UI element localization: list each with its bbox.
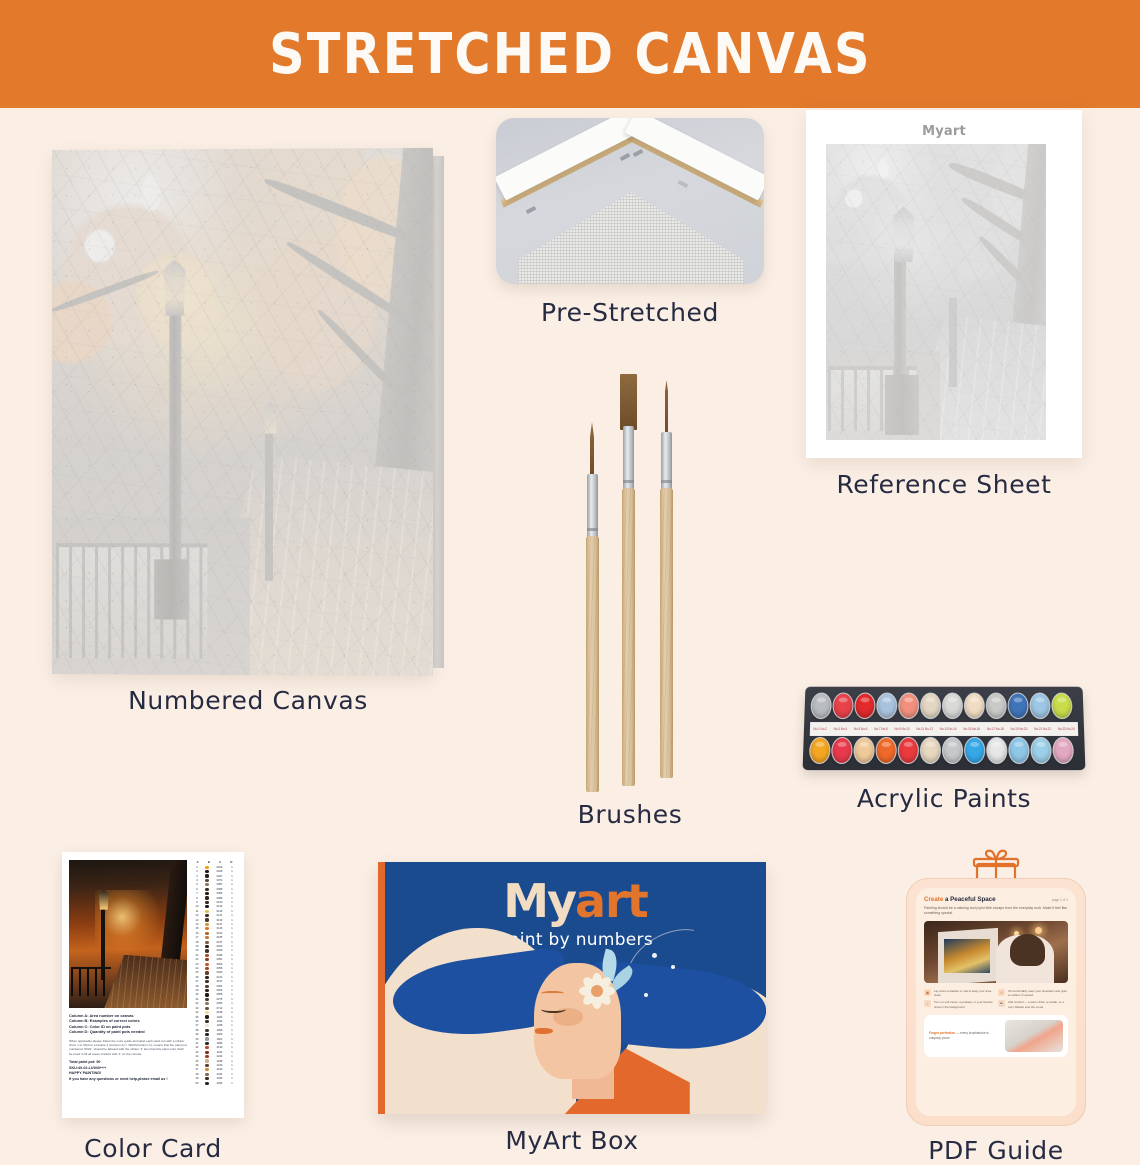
table-header-cell: D [226, 860, 237, 864]
cell-quantity: 1 [227, 1016, 237, 1019]
paint-number-label: No.1 No.2 [813, 727, 827, 731]
cell-quantity: 1 [227, 945, 237, 948]
cell-color-swatch [202, 883, 212, 886]
paint-pot [920, 737, 941, 764]
cell-color-swatch [202, 1020, 212, 1023]
cell-quantity: 1 [227, 954, 237, 957]
caption-acrylic-paints: Acrylic Paints [798, 784, 1090, 813]
cell-color-id: 2130 [212, 1046, 227, 1049]
pdf-guide-tip: ▣Lay down a blanket or mat to keep your … [924, 989, 993, 997]
cell-quantity: 1 [227, 919, 237, 922]
cell-color-swatch [202, 905, 212, 908]
reference-sheet-logo: Myart [822, 124, 1066, 139]
pdf-guide-photo [924, 921, 1068, 983]
paint-number-label: No.15 No.16 [963, 727, 980, 731]
page-header: STRETCHED CANVAS [0, 0, 1140, 108]
cell-color-id: 0130 [212, 919, 227, 922]
cell-area-number: 12 [192, 914, 202, 917]
cell-area-number: 4 [192, 879, 202, 882]
paint-pot [875, 737, 896, 764]
cell-color-id: 0056 [212, 967, 227, 970]
cell-color-swatch [202, 967, 212, 970]
brush-handle [586, 536, 599, 792]
cell-color-swatch [202, 1064, 212, 1067]
cell-color-id: 0162 [212, 932, 227, 935]
cell-area-number: 48 [192, 1073, 202, 1076]
cell-area-number: 49 [192, 1077, 202, 1080]
cell-color-id: 0146 [212, 927, 227, 930]
cell-area-number: 13 [192, 919, 202, 922]
product-color-card[interactable]: Column A: Area number on canvas Column B… [40, 852, 266, 1152]
cell-color-swatch [202, 879, 212, 882]
cell-quantity: 1 [227, 1060, 237, 1063]
cell-color-swatch [202, 1029, 212, 1032]
cell-color-id: 2244 [212, 1073, 227, 1076]
cell-color-id: 1044 [212, 1020, 227, 1023]
cell-quantity: 1 [227, 1007, 237, 1010]
cell-area-number: 30 [192, 993, 202, 996]
paint-pot [1052, 737, 1074, 764]
cell-quantity: 1 [227, 976, 237, 979]
paint-pot [898, 693, 919, 720]
cell-quantity: 1 [227, 963, 237, 966]
cell-area-number: 24 [192, 967, 202, 970]
cell-quantity: 1 [227, 892, 237, 895]
photo-painting [944, 939, 990, 974]
cell-quantity: 1 [227, 936, 237, 939]
cell-color-swatch [202, 945, 212, 948]
paint-number-label: No.13 No.14 [940, 727, 957, 731]
paint-number-label: No.9 No.10 [894, 727, 909, 731]
cell-color-id: 0147 [212, 923, 227, 926]
cell-color-id: 0086 [212, 897, 227, 900]
cell-quantity: 1 [227, 958, 237, 961]
paint-number-label: No.21 No.22 [1034, 727, 1051, 731]
paint-number-label: No.3 No.4 [834, 727, 848, 731]
cell-quantity: 1 [227, 1033, 237, 1036]
cell-color-swatch [202, 1007, 212, 1010]
cell-color-id: 0275 [212, 998, 227, 1001]
paint-pot-row-top [810, 693, 1077, 720]
cell-color-swatch [202, 980, 212, 983]
table-header-cell: A [192, 860, 203, 864]
pdf-guide-page-number: page 1 of 1 [1052, 898, 1068, 902]
product-reference-sheet[interactable]: Myart Reference Sheet [798, 110, 1090, 518]
paint-pot [809, 737, 831, 764]
cell-color-id: 1928 [212, 1024, 227, 1027]
cell-color-id: 0918 [212, 1011, 227, 1014]
brush-bristles [590, 422, 594, 476]
cell-quantity: 1 [227, 923, 237, 926]
paint-number-label: No.5 No.6 [854, 727, 868, 731]
cell-quantity: 1 [227, 875, 237, 878]
cell-area-number: 29 [192, 989, 202, 992]
brush-bristles [665, 380, 668, 436]
color-card-left-column: Column A: Area number on canvas Column B… [69, 860, 187, 1110]
cell-color-id: 2242 [212, 1055, 227, 1058]
cell-color-swatch [202, 1024, 212, 1027]
canvas-weave-texture [518, 192, 744, 284]
cell-quantity: 1 [227, 905, 237, 908]
cell-quantity: 1 [227, 1020, 237, 1023]
pdf-guide-tip: ☺Sit comfortably, keep your shoulders an… [998, 989, 1067, 997]
cell-area-number: 3 [192, 875, 202, 878]
cell-color-id: 0050 [212, 963, 227, 966]
cell-color-id: 1060 [212, 1033, 227, 1036]
product-acrylic-paints[interactable]: No.1 No.2No.3 No.4No.5 No.6No.7 No.8No.9… [798, 526, 1090, 826]
paint-pot [854, 693, 875, 720]
table-row: 5022541 [192, 1081, 237, 1085]
product-brushes[interactable]: Brushes [470, 348, 790, 678]
cell-color-swatch [202, 910, 212, 913]
cell-color-swatch [202, 941, 212, 944]
paint-pot [964, 737, 985, 764]
photo-pathway [104, 955, 187, 1008]
cell-color-swatch [202, 892, 212, 895]
cell-area-number: 7 [192, 892, 202, 895]
paint-pot [986, 737, 1007, 764]
caption-pdf-guide: PDF Guide [896, 1136, 1096, 1165]
cell-color-id: 0133 [212, 910, 227, 913]
color-card-table: ABCD 10022120025130027140072150087160089… [192, 860, 237, 1110]
cell-area-number: 26 [192, 976, 202, 979]
cell-area-number: 25 [192, 971, 202, 974]
note-thumbnail [1005, 1020, 1063, 1052]
cell-area-number: 27 [192, 980, 202, 983]
table-header-cell: C [215, 860, 226, 864]
cell-quantity: 1 [227, 1038, 237, 1041]
cell-color-swatch [202, 958, 212, 961]
paint-pot [832, 693, 854, 720]
illustration-daisy-flower [579, 973, 615, 1009]
product-myart-box[interactable]: Myart paint by numbers MyArt Box [372, 808, 772, 1152]
ref-gray-overlay [826, 144, 1046, 440]
tip-text: Lay down a blanket or mat to keep your a… [934, 989, 993, 997]
cell-color-id: 0120 [212, 901, 227, 904]
cell-area-number: 32 [192, 1002, 202, 1005]
cell-area-number: 35 [192, 1016, 202, 1019]
cell-color-id: 0025 [212, 870, 227, 873]
paint-number-label: No.23 No.24 [1058, 727, 1075, 731]
cell-quantity: 1 [227, 980, 237, 983]
paint-pot [853, 737, 875, 764]
brush-bristles [620, 374, 637, 430]
cell-color-id: 2250 [212, 1077, 227, 1080]
cell-color-swatch [202, 1059, 212, 1062]
cell-color-id: 0212 [212, 976, 227, 979]
cell-color-swatch [202, 901, 212, 904]
cell-color-swatch [202, 1077, 212, 1080]
cell-area-number: 22 [192, 958, 202, 961]
tip-icon: ☺ [998, 989, 1005, 996]
paint-pot [964, 693, 985, 720]
cell-color-swatch [202, 1068, 212, 1071]
caption-pre-stretched: Pre-Stretched [470, 298, 790, 327]
cell-color-id: 0132 [212, 905, 227, 908]
caption-reference-sheet: Reference Sheet [798, 470, 1090, 499]
decorative-dot [652, 953, 657, 958]
cell-quantity: 1 [227, 949, 237, 952]
cell-color-id: 2238 [212, 1060, 227, 1063]
paint-pot [876, 693, 897, 720]
canvas-fade-overlay [52, 148, 433, 676]
note-accent: Forget perfection [929, 1031, 955, 1035]
color-card-paper: Column A: Area number on canvas Column B… [62, 852, 244, 1118]
paint-pot [1030, 737, 1052, 764]
cell-quantity: 1 [227, 1024, 237, 1027]
cell-area-number: 18 [192, 941, 202, 944]
cell-color-id: 0027 [212, 875, 227, 878]
cell-color-swatch [202, 874, 212, 877]
paint-pot [810, 693, 832, 720]
product-grid: Numbered Canvas Pre-Stretched Myart [0, 108, 1140, 1140]
cell-area-number: 5 [192, 883, 202, 886]
cell-area-number: 40 [192, 1038, 202, 1041]
cell-area-number: 14 [192, 923, 202, 926]
cell-color-swatch [202, 998, 212, 1001]
brush-ferrule-band [623, 480, 634, 483]
cell-area-number: 20 [192, 949, 202, 952]
cell-color-id: 0039 [212, 954, 227, 957]
product-numbered-canvas[interactable]: Numbered Canvas [52, 150, 444, 674]
pdf-guide-note: Forget perfection — every brushstroke is… [924, 1015, 1068, 1057]
cell-color-id: 0655 [212, 993, 227, 996]
cell-color-swatch [202, 866, 212, 869]
cell-quantity: 1 [227, 1046, 237, 1049]
cell-color-swatch [202, 914, 212, 917]
cell-color-swatch [202, 1055, 212, 1058]
cell-quantity: 1 [227, 1073, 237, 1076]
cell-color-swatch [202, 949, 212, 952]
cell-quantity: 1 [227, 870, 237, 873]
cell-color-id: 2243 [212, 1068, 227, 1071]
cell-area-number: 28 [192, 985, 202, 988]
cell-color-swatch [202, 927, 212, 930]
cell-color-swatch [202, 1042, 212, 1045]
cell-color-swatch [202, 932, 212, 935]
cell-color-swatch [202, 1046, 212, 1049]
paint-pot [986, 693, 1007, 720]
cell-quantity: 1 [227, 910, 237, 913]
cell-quantity: 1 [227, 914, 237, 917]
page-title: STRETCHED CANVAS [269, 22, 872, 87]
brush-handle [660, 488, 673, 778]
table-header-cell: B [203, 860, 214, 864]
cell-color-id: 0023 [212, 971, 227, 974]
cell-quantity: 1 [227, 941, 237, 944]
caption-color-card: Color Card [40, 1134, 266, 1163]
paint-pot [920, 693, 941, 720]
cell-area-number: 37 [192, 1024, 202, 1027]
cell-color-id: 0072 [212, 879, 227, 882]
cell-color-id: 0185 [212, 936, 227, 939]
brush-handle [622, 488, 635, 786]
brush-ferrule-band [661, 480, 672, 483]
cell-quantity: 1 [227, 1064, 237, 1067]
title-accent: Create [924, 896, 943, 903]
cell-color-id: 0350 [212, 1002, 227, 1005]
cell-color-swatch [202, 1015, 212, 1018]
cell-color-id: 2224 [212, 1051, 227, 1054]
stretcher-bar-left [496, 118, 640, 201]
pdf-guide-title: Create a Peaceful Space [924, 896, 996, 903]
cell-color-id: 0202 [212, 945, 227, 948]
reference-sheet-artwork [826, 144, 1046, 440]
cell-color-id: 0087 [212, 883, 227, 886]
cell-color-swatch [202, 1073, 212, 1076]
cell-color-swatch [202, 1037, 212, 1040]
paint-pot-row-bottom [809, 737, 1079, 765]
cell-quantity: 1 [227, 1051, 237, 1054]
cell-color-id: 0089 [212, 888, 227, 891]
cell-area-number: 33 [192, 1007, 202, 1010]
cell-color-id: 0051 [212, 958, 227, 961]
cell-area-number: 23 [192, 963, 202, 966]
pdf-guide-header: Create a Peaceful Space page 1 of 1 [924, 896, 1068, 903]
cell-color-swatch [202, 993, 212, 996]
cell-area-number: 11 [192, 910, 202, 913]
cell-area-number: 36 [192, 1020, 202, 1023]
cell-color-id: 0197 [212, 941, 227, 944]
cell-color-swatch [202, 1002, 212, 1005]
tip-text: Turn on soft music, a podcast, or your f… [934, 1000, 993, 1008]
cell-color-id: 0481 [212, 985, 227, 988]
tip-icon: ♪ [924, 1000, 931, 1007]
photo-tree-trunk [160, 860, 187, 964]
cell-quantity: 1 [227, 897, 237, 900]
cell-quantity: 1 [227, 1011, 237, 1014]
cell-color-id: 0666 [212, 989, 227, 992]
pdf-guide-tip: ☕Add comfort — a warm drink, a candle, o… [998, 1000, 1067, 1008]
cell-quantity: 1 [227, 1082, 237, 1085]
stretcher-bar-right [624, 118, 764, 201]
cell-color-id: 0131 [212, 914, 227, 917]
cell-quantity: 1 [227, 932, 237, 935]
cell-quantity: 1 [227, 989, 237, 992]
photo-person-hair [1010, 934, 1045, 966]
cell-color-swatch [202, 1051, 212, 1054]
paint-number-label: No.19 No.20 [1010, 727, 1027, 731]
cell-area-number: 15 [192, 927, 202, 930]
color-card-footer: Total paint pot: 50 SKU:40-02-LU940+++ H… [69, 1060, 187, 1082]
pdf-guide-tip: ♪Turn on soft music, a podcast, or your … [924, 1000, 993, 1008]
myart-box-front: Myart paint by numbers [378, 862, 766, 1114]
cell-color-swatch [202, 989, 212, 992]
cell-quantity: 1 [227, 927, 237, 930]
logo-text-art: art [575, 874, 648, 928]
cell-quantity: 1 [227, 888, 237, 891]
legend-column-d: Column D: Quantity of paint pots needed [69, 1029, 187, 1034]
paint-pot [1008, 737, 1030, 764]
paint-pot [831, 737, 853, 764]
cell-color-swatch [202, 1033, 212, 1036]
cell-color-id: 0712 [212, 1007, 227, 1010]
cell-quantity: 1 [227, 967, 237, 970]
cell-color-swatch [202, 971, 212, 974]
cell-quantity: 1 [227, 901, 237, 904]
caption-myart-box: MyArt Box [372, 1126, 772, 1155]
cell-area-number: 6 [192, 888, 202, 891]
cell-quantity: 1 [227, 1068, 237, 1071]
product-pre-stretched[interactable]: Pre-Stretched [470, 118, 790, 344]
photo-light [1035, 927, 1042, 934]
paint-number-label: No.17 No.18 [987, 727, 1004, 731]
pre-stretched-photo [496, 118, 764, 284]
cell-area-number: 38 [192, 1029, 202, 1032]
cell-area-number: 43 [192, 1051, 202, 1054]
cell-area-number: 46 [192, 1064, 202, 1067]
cell-area-number: 1 [192, 866, 202, 869]
contact-line: If you have any questions or need help,p… [69, 1077, 187, 1083]
cell-color-id: 0065 [212, 892, 227, 895]
pdf-guide-intro: Painting should be a calming and joyful … [924, 906, 1068, 916]
cell-color-swatch [202, 1011, 212, 1014]
tip-text: Add comfort — a warm drink, a candle, or… [1008, 1000, 1067, 1008]
cell-quantity: 1 [227, 998, 237, 1001]
paint-pot [1029, 693, 1051, 720]
note-text: Forget perfection — every brushstroke is… [929, 1031, 1000, 1040]
cell-color-swatch [202, 1082, 212, 1085]
cell-area-number: 2 [192, 870, 202, 873]
cell-color-id: 2254 [212, 1082, 227, 1085]
cell-quantity: 1 [227, 1077, 237, 1080]
cell-area-number: 31 [192, 998, 202, 1001]
tip-icon: ☕ [998, 1000, 1005, 1007]
cell-color-id: 0247 [212, 980, 227, 983]
cell-area-number: 8 [192, 897, 202, 900]
pdf-guide-tips: ▣Lay down a blanket or mat to keep your … [924, 989, 1068, 1009]
cell-quantity: 1 [227, 971, 237, 974]
cell-quantity: 1 [227, 1029, 237, 1032]
illustration-eyebrow [541, 991, 564, 997]
pdf-guide-card: Create a Peaceful Space page 1 of 1 Pain… [906, 878, 1086, 1126]
brush-ferrule-band [587, 528, 598, 531]
cell-quantity: 1 [227, 993, 237, 996]
cell-color-swatch [202, 976, 212, 979]
cell-color-swatch [202, 918, 212, 921]
paint-pot [942, 693, 963, 720]
tip-text: Sit comfortably, keep your shoulders and… [1008, 989, 1067, 997]
cell-quantity: 1 [227, 1002, 237, 1005]
cell-area-number: 47 [192, 1068, 202, 1071]
staple-icon [620, 153, 631, 161]
color-card-fine-print: When applicable,please follow the color … [69, 1039, 187, 1057]
paint-label-strip: No.1 No.2No.3 No.4No.5 No.6No.7 No.8No.9… [810, 722, 1079, 736]
cell-quantity: 1 [227, 879, 237, 882]
cell-quantity: 1 [227, 985, 237, 988]
cell-color-swatch [202, 923, 212, 926]
title-rest: a Peaceful Space [943, 896, 995, 903]
cell-color-swatch [202, 963, 212, 966]
staple-icon [678, 180, 689, 188]
cell-quantity: 1 [227, 883, 237, 886]
cell-area-number: 42 [192, 1046, 202, 1049]
logo-text-my: My [503, 874, 575, 928]
cell-color-swatch [202, 870, 212, 873]
cell-color-swatch [202, 888, 212, 891]
table-body: 1002212002513002714007215008716008917006… [192, 865, 237, 1085]
paint-number-label: No.7 No.8 [874, 727, 888, 731]
cell-quantity: 1 [227, 866, 237, 869]
cell-area-number: 39 [192, 1033, 202, 1036]
caption-numbered-canvas: Numbered Canvas [52, 686, 444, 715]
staple-icon [633, 149, 644, 157]
paint-tray: No.1 No.2No.3 No.4No.5 No.6No.7 No.8No.9… [803, 687, 1086, 770]
cell-quantity: 1 [227, 1055, 237, 1058]
cell-area-number: 16 [192, 932, 202, 935]
cell-color-id: 1601 [212, 1038, 227, 1041]
product-pdf-guide[interactable]: Create a Peaceful Space page 1 of 1 Pain… [896, 844, 1096, 1152]
